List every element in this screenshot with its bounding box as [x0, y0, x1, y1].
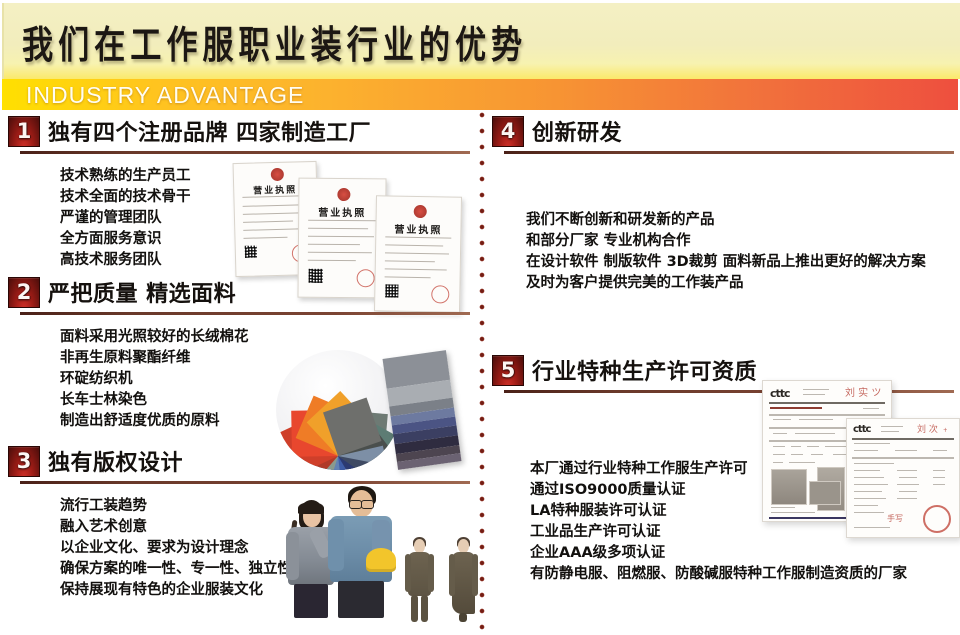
section-3-line-3: 以企业文化、要求为设计理念 [60, 538, 292, 559]
section-1-rule [20, 151, 470, 154]
report-1-logo: cttc [770, 387, 790, 400]
section-1: 1 独有四个注册品牌 四家制造工厂 技术熟练的生产员工 技术全面的技术骨干 严谨… [8, 116, 470, 150]
uniform-models-photo [284, 482, 480, 632]
section-1-title: 独有四个注册品牌 四家制造工厂 [48, 115, 371, 147]
section-2-rule [20, 312, 470, 315]
section-2-line-3: 环碇纺织机 [60, 369, 249, 390]
section-2-line-1: 面料采用光照较好的长绒棉花 [60, 327, 249, 348]
section-2-number: 2 [9, 278, 39, 307]
section-3-body: 流行工装趋势 融入艺术创意 以企业文化、要求为设计理念 确保方案的唯一性、专一性… [60, 496, 292, 601]
section-1-number: 1 [9, 117, 39, 146]
certificate-3-label: 营业执照 [376, 220, 460, 236]
section-5-line-5: 企业AAA级多项认证 [530, 543, 907, 564]
section-2-heading: 2 严把质量 精选面料 [8, 277, 470, 311]
section-4-number-badge: 4 [492, 116, 524, 147]
test-report-2: cttc 刘 次 ﹢ 手写 [846, 418, 960, 538]
section-5-title: 行业特种生产许可资质 [532, 354, 757, 386]
section-2-number-badge: 2 [8, 277, 40, 308]
section-3-line-5: 保持展现有特色的企业服装文化 [60, 580, 292, 601]
section-3-heading: 3 独有版权设计 [8, 446, 470, 480]
section-1-line-2: 技术全面的技术骨干 [60, 187, 191, 208]
section-2-body: 面料采用光照较好的长绒棉花 非再生原料聚酯纤维 环碇纺织机 长车士林染色 制造出… [60, 327, 249, 432]
fashion-illustration-1 [402, 537, 436, 622]
fashion-illustration-2 [446, 537, 480, 622]
section-5-line-6: 有防静电服、阻燃服、防酸碱服特种工作服制造资质的厂家 [530, 564, 907, 585]
report-2-logo: cttc [853, 424, 870, 435]
section-1-line-4: 全方面服务意识 [60, 229, 191, 250]
section-3-line-2: 融入艺术创意 [60, 517, 292, 538]
section-1-line-3: 严谨的管理团队 [60, 208, 191, 229]
section-4-line-3: 在设计软件 制版软件 3D裁剪 面料新品上推出更好的解决方案 [526, 252, 926, 273]
section-1-number-badge: 1 [8, 116, 40, 147]
section-3-number-badge: 3 [8, 446, 40, 477]
section-2-line-2: 非再生原料聚酯纤维 [60, 348, 249, 369]
section-4: 4 创新研发 我们不断创新和研发新的产品 和部分厂家 专业机构合作 在设计软件 … [492, 116, 954, 150]
section-5-number-badge: 5 [492, 355, 524, 386]
certificate-2-label: 营业执照 [299, 204, 385, 220]
section-4-line-1: 我们不断创新和研发新的产品 [526, 210, 926, 231]
section-1-line-5: 高技术服务团队 [60, 250, 191, 271]
test-report-photos: cttc 刘 实 ツ [762, 376, 960, 536]
section-4-body: 我们不断创新和研发新的产品 和部分厂家 专业机构合作 在设计软件 制版软件 3D… [526, 210, 926, 294]
section-3-line-4: 确保方案的唯一性、专一性、独立性 [60, 559, 292, 580]
section-2-line-4: 长车士林染色 [60, 390, 249, 411]
model-man [328, 486, 402, 618]
page-title: 我们在工作服职业装行业的优势 [22, 14, 527, 69]
section-2: 2 严把质量 精选面料 面料采用光照较好的长绒棉花 非再生原料聚酯纤维 环碇纺织… [8, 277, 470, 311]
section-3-title: 独有版权设计 [48, 445, 183, 477]
section-1-body: 技术熟练的生产员工 技术全面的技术骨干 严谨的管理团队 全方面服务意识 高技术服… [60, 166, 191, 271]
section-1-line-1: 技术熟练的生产员工 [60, 166, 191, 187]
section-4-title: 创新研发 [532, 115, 622, 147]
industry-advantage-poster: 我们在工作服职业装行业的优势 INDUSTRY ADVANTAGE 1 独有四个… [0, 0, 960, 635]
header-subtitle: INDUSTRY ADVANTAGE [26, 82, 304, 109]
section-3: 3 独有版权设计 流行工装趋势 融入艺术创意 以企业文化、要求为设计理念 确保方… [8, 446, 470, 480]
section-3-line-1: 流行工装趋势 [60, 496, 292, 517]
section-3-number: 3 [9, 447, 39, 476]
section-4-line-4: 及时为客户提供完美的工作装产品 [526, 273, 926, 294]
section-4-number: 4 [493, 117, 523, 146]
section-4-rule [504, 151, 954, 154]
section-2-title: 严把质量 精选面料 [48, 276, 236, 308]
section-4-heading: 4 创新研发 [492, 116, 954, 150]
section-4-line-2: 和部分厂家 专业机构合作 [526, 231, 926, 252]
section-5-number: 5 [493, 356, 523, 385]
page-header: 我们在工作服职业装行业的优势 INDUSTRY ADVANTAGE [0, 0, 960, 110]
section-2-line-5: 制造出舒适度优质的原料 [60, 411, 249, 432]
section-1-heading: 1 独有四个注册品牌 四家制造工厂 [8, 116, 470, 150]
